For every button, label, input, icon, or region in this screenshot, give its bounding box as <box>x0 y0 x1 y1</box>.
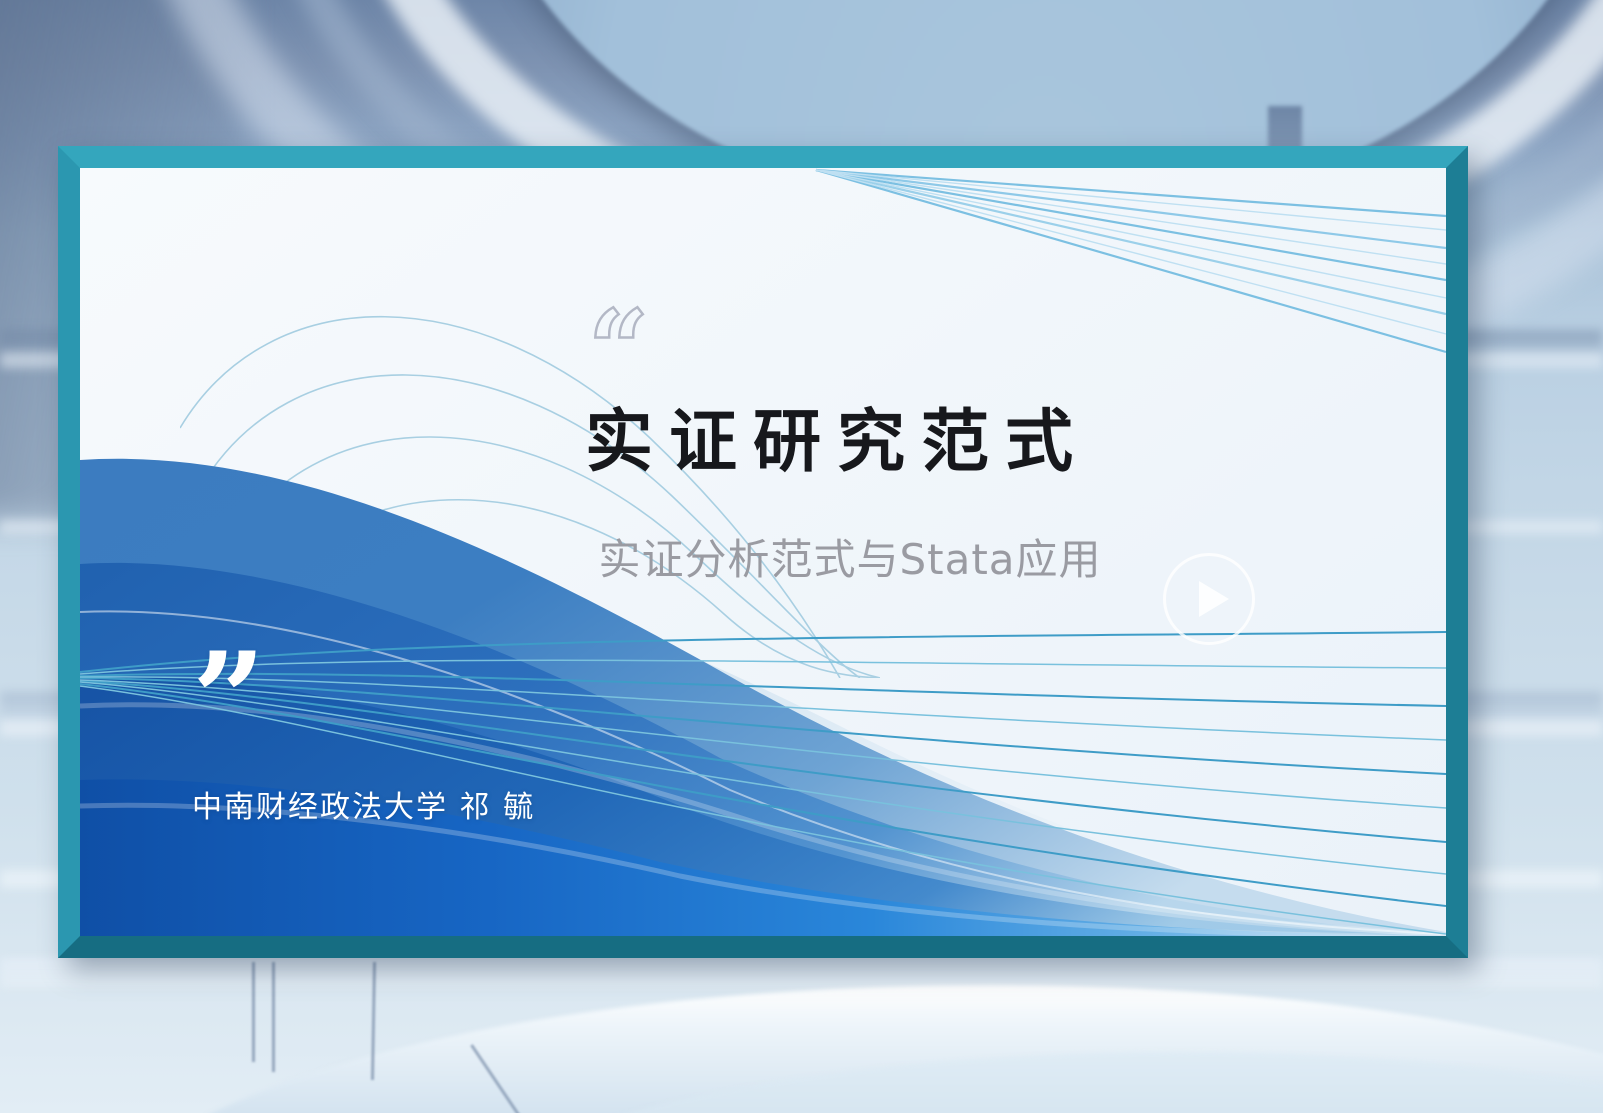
presentation-slide: “ 实证研究范式 实证分析范式与Stata应用 ” 中南财经政法大学 祁 毓 <box>80 168 1446 936</box>
background-cable <box>252 962 255 1062</box>
closing-quote-mark: ” <box>192 636 262 764</box>
slide-title: 实证研究范式 <box>80 386 1446 485</box>
presenter-affiliation: 中南财经政法大学 祁 毓 <box>192 782 535 826</box>
background-cable <box>272 962 275 1072</box>
video-player-stage: “ 实证研究范式 实证分析范式与Stata应用 ” 中南财经政法大学 祁 毓 <box>0 0 1603 1113</box>
slide-frame: “ 实证研究范式 实证分析范式与Stata应用 ” 中南财经政法大学 祁 毓 <box>58 146 1468 958</box>
background-floor-line <box>0 958 1603 988</box>
play-triangle-icon <box>1199 581 1229 617</box>
play-button[interactable] <box>1163 553 1255 645</box>
